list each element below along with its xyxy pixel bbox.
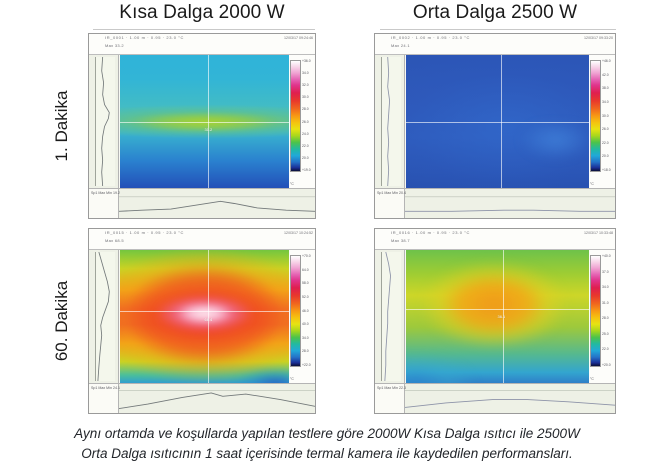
temperature-color-scale: +36.0 34.0 32.0 30.0 28.0 26.0 24.0 22.0… <box>289 55 315 188</box>
thermal-toolbar-max: Max 38.7 <box>391 238 410 243</box>
scale-tick: 38.0 <box>602 86 615 90</box>
crosshair-horizontal <box>406 122 589 123</box>
thermal-toolbar-info: IR_0002 · 1.00 m · 0.95 · 23.0 °C <box>391 35 470 40</box>
column-title-rule-right <box>380 29 616 30</box>
thermal-image: 31.2 <box>120 55 289 188</box>
scale-tick: 34.0 <box>602 100 615 104</box>
scale-tick: +19.0 <box>302 168 315 172</box>
scale-tick: 58.0 <box>302 281 315 285</box>
thermal-toolbar: IR_0002 · 1.00 m · 0.95 · 23.0 °C Max 24… <box>375 34 615 55</box>
scale-tick: 24.0 <box>302 132 315 136</box>
spot-temperature-label: 66.4 <box>205 317 213 322</box>
thermal-cool-bottom-left <box>406 338 498 383</box>
scale-tick: 28.0 <box>302 349 315 353</box>
thermal-hot-core-inner <box>157 295 252 332</box>
color-scale-unit: °C <box>290 377 294 381</box>
color-scale-bar <box>590 255 601 367</box>
thermal-toolbar-max: Max 33.2 <box>105 43 124 48</box>
scale-tick: 40.0 <box>302 322 315 326</box>
color-scale-unit: °C <box>590 182 594 186</box>
thermal-toolbar: IR_0016 · 1.00 m · 0.95 · 23.0 °C Max 38… <box>375 229 615 250</box>
color-scale-ticks: +40.0 37.0 34.0 31.0 28.0 25.0 22.0 +20.… <box>602 254 615 367</box>
horizontal-profile-trace <box>119 189 315 218</box>
horizontal-profile-chart <box>405 383 615 413</box>
thermal-timestamp: 12/03/17 10:33:48 <box>584 230 613 236</box>
row-label-minute-1: 1. Dakika <box>44 33 80 219</box>
thermal-timestamp: 12/03/17 10:24:52 <box>284 230 313 236</box>
column-title-short-wave: Kısa Dalga 2000 W <box>88 0 316 26</box>
scale-tick: 37.0 <box>602 270 615 274</box>
vertical-profile-chart <box>375 250 405 383</box>
color-scale-unit: °C <box>290 182 294 186</box>
thermal-panel-medium-wave-minute-60: IR_0016 · 1.00 m · 0.95 · 23.0 °C Max 38… <box>374 228 616 414</box>
thermal-image: 66.4 <box>120 250 289 383</box>
scale-tick: +22.0 <box>302 363 315 367</box>
spot-temperature-label: 36.1 <box>498 314 506 319</box>
vertical-profile-chart <box>89 250 119 383</box>
scale-tick: 22.0 <box>602 347 615 351</box>
scale-tick: 64.0 <box>302 268 315 272</box>
scale-tick: 34.0 <box>302 71 315 75</box>
color-scale-bar <box>290 60 301 172</box>
scale-tick: 20.0 <box>602 154 615 158</box>
scale-tick: 25.0 <box>602 332 615 336</box>
horizontal-profile-trace <box>119 384 315 413</box>
caption-line-2: Orta Dalga ısıtıcının 1 saat içerisinde … <box>14 444 640 464</box>
scale-tick: +46.0 <box>602 59 615 63</box>
crosshair-horizontal <box>406 309 589 310</box>
scale-tick: 30.0 <box>302 95 315 99</box>
thermal-panel-medium-wave-minute-1: IR_0002 · 1.00 m · 0.95 · 23.0 °C Max 24… <box>374 33 616 219</box>
thermal-image: 36.1 <box>406 250 589 383</box>
scale-tick: 34.0 <box>602 285 615 289</box>
corner-readout-text: Sp1 Max Min 22.3 <box>377 386 406 391</box>
row-label-minute-60: 60. Dakika <box>44 228 80 414</box>
scale-tick: 46.0 <box>302 309 315 313</box>
scale-tick: +70.0 <box>302 254 315 258</box>
thermal-toolbar-max: Max 68.5 <box>105 238 124 243</box>
scale-tick: 30.0 <box>602 114 615 118</box>
vertical-profile-chart <box>89 55 119 188</box>
thermal-timestamp: 12/03/17 09:24:46 <box>284 35 313 41</box>
horizontal-profile-chart <box>119 188 315 218</box>
scale-tick: 26.0 <box>302 120 315 124</box>
thermal-panel-short-wave-minute-1: IR_0001 · 1.00 m · 0.95 · 23.0 °C Max 33… <box>88 33 316 219</box>
thermal-toolbar-info: IR_0016 · 1.00 m · 0.95 · 23.0 °C <box>391 230 470 235</box>
scale-tick: 52.0 <box>302 295 315 299</box>
caption-line-1: Aynı ortamda ve koşullarda yapılan testl… <box>74 426 580 441</box>
corner-readout-text: Sp1 Max Min 19.2 <box>91 191 120 196</box>
vertical-profile-trace <box>96 252 115 381</box>
vertical-profile-chart <box>375 55 405 188</box>
row-label-minute-1-text: 1. Dakika <box>52 91 72 162</box>
vertical-profile-trace <box>382 252 401 381</box>
profile-corner-readout: Sp1 Max Min 19.2 <box>89 188 119 218</box>
color-scale-bar <box>290 255 301 367</box>
scale-tick: +20.0 <box>602 363 615 367</box>
horizontal-profile-trace <box>405 189 615 218</box>
scale-tick: 31.0 <box>602 301 615 305</box>
horizontal-profile-chart <box>119 383 315 413</box>
horizontal-profile-trace <box>405 384 615 413</box>
thermal-toolbar-info: IR_0001 · 1.00 m · 0.95 · 23.0 °C <box>105 35 184 40</box>
scale-tick: 26.0 <box>602 127 615 131</box>
profile-corner-readout: Sp1 Max Min 24.1 <box>89 383 119 413</box>
spot-temperature-label: 31.2 <box>205 127 213 132</box>
color-scale-bar <box>590 60 601 172</box>
scale-tick: 22.0 <box>602 141 615 145</box>
temperature-color-scale: +70.0 64.0 58.0 52.0 46.0 40.0 34.0 28.0… <box>289 250 315 383</box>
thermal-panel-short-wave-minute-60: IR_0015 · 1.00 m · 0.95 · 23.0 °C Max 68… <box>88 228 316 414</box>
figure-caption: Aynı ortamda ve koşullarda yapılan testl… <box>0 424 654 464</box>
scale-tick: 28.0 <box>302 107 315 111</box>
color-scale-ticks: +70.0 64.0 58.0 52.0 46.0 40.0 34.0 28.0… <box>302 254 315 367</box>
thermal-toolbar-info: IR_0015 · 1.00 m · 0.95 · 23.0 °C <box>105 230 184 235</box>
color-scale-ticks: +46.0 42.0 38.0 34.0 30.0 26.0 22.0 20.0… <box>602 59 615 172</box>
corner-readout-text: Sp1 Max Min 20.4 <box>377 191 406 196</box>
scale-tick: 28.0 <box>602 316 615 320</box>
scale-tick: 32.0 <box>302 83 315 87</box>
crosshair-horizontal <box>120 311 289 312</box>
thermal-toolbar: IR_0001 · 1.00 m · 0.95 · 23.0 °C Max 33… <box>89 34 315 55</box>
vertical-profile-trace <box>382 57 401 186</box>
row-label-minute-60-text: 60. Dakika <box>52 281 72 361</box>
horizontal-profile-chart <box>405 188 615 218</box>
thermal-cool-corner <box>225 359 289 383</box>
corner-readout-text: Sp1 Max Min 24.1 <box>91 386 120 391</box>
scale-tick: 34.0 <box>302 336 315 340</box>
profile-corner-readout: Sp1 Max Min 20.4 <box>375 188 405 218</box>
thermal-toolbar-max: Max 24.1 <box>391 43 410 48</box>
profile-corner-readout: Sp1 Max Min 22.3 <box>375 383 405 413</box>
scale-tick: 42.0 <box>602 73 615 77</box>
scale-tick: 20.0 <box>302 156 315 160</box>
color-scale-ticks: +36.0 34.0 32.0 30.0 28.0 26.0 24.0 22.0… <box>302 59 315 172</box>
scale-tick: +40.0 <box>602 254 615 258</box>
scale-tick: +36.0 <box>302 59 315 63</box>
column-title-medium-wave: Orta Dalga 2500 W <box>374 0 616 26</box>
thermal-warm-spot <box>512 124 585 164</box>
thermal-image <box>406 55 589 188</box>
scale-tick: 22.0 <box>302 144 315 148</box>
thermal-toolbar: IR_0015 · 1.00 m · 0.95 · 23.0 °C Max 68… <box>89 229 315 250</box>
temperature-color-scale: +40.0 37.0 34.0 31.0 28.0 25.0 22.0 +20.… <box>589 250 615 383</box>
temperature-color-scale: +46.0 42.0 38.0 34.0 30.0 26.0 22.0 20.0… <box>589 55 615 188</box>
thermal-timestamp: 12/03/17 09:33:20 <box>584 35 613 41</box>
scale-tick: +18.0 <box>602 168 615 172</box>
crosshair-horizontal <box>120 122 289 123</box>
vertical-profile-trace <box>96 57 115 186</box>
color-scale-unit: °C <box>590 377 594 381</box>
column-title-rule-left <box>93 29 315 30</box>
